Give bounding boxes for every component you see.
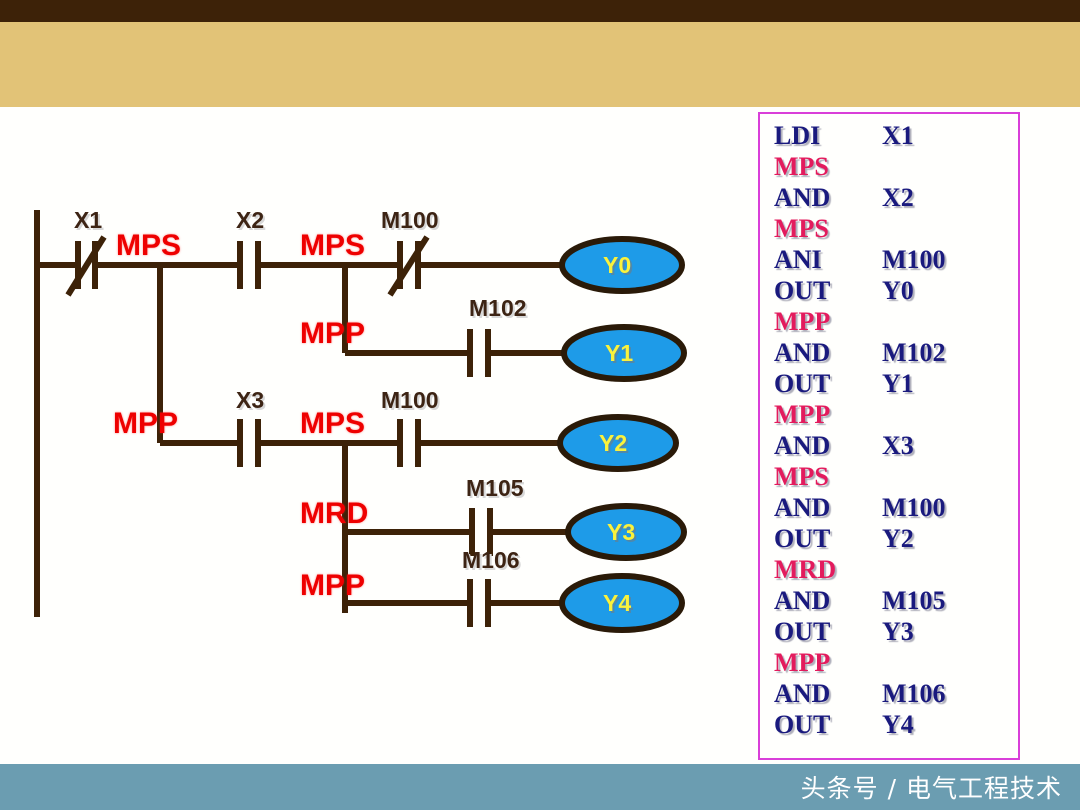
il-opcode: OUT [774,368,882,399]
il-opcode: OUT [774,523,882,554]
il-opcode: MPP [774,399,882,430]
top-tan-band [0,22,1080,107]
coil-y3 [568,506,684,558]
contact-m100-b [400,419,418,467]
coil-y4 [562,576,682,630]
il-row: OUTY3 [774,616,1018,647]
ladder-wires [0,107,740,764]
il-row: MRD [774,554,1018,585]
il-row: OUTY2 [774,523,1018,554]
il-row: MPS [774,213,1018,244]
il-opcode: LDI [774,120,882,151]
il-row: ANDX3 [774,430,1018,461]
stack-annotation-mpp-3: MPP [300,569,365,603]
contact-label-m100-b: M100 [381,387,439,414]
il-opcode: MPS [774,213,882,244]
il-opcode: ANI [774,244,882,275]
il-opcode: OUT [774,709,882,740]
contact-label-m100-a: M100 [381,207,439,234]
il-row: OUTY4 [774,709,1018,740]
il-operand: M102 [882,337,946,368]
footer-credit: 头条号 / 电气工程技术 [801,769,1062,805]
contact-label-x3: X3 [236,387,264,414]
contact-label-x1: X1 [74,207,102,234]
stack-annotation-mps-1: MPS [116,229,181,263]
il-operand: X2 [882,182,914,213]
il-operand: Y2 [882,523,914,554]
il-opcode: MPS [774,151,882,182]
il-row: LDIX1 [774,120,1018,151]
il-row: ANDM100 [774,492,1018,523]
il-opcode: MRD [774,554,882,585]
slide-canvas: X1 X2 M100 M102 X3 M100 M105 M106 MPS MP… [0,0,1080,810]
il-operand: Y1 [882,368,914,399]
il-row: ANDM106 [774,678,1018,709]
il-opcode: AND [774,492,882,523]
il-operand: Y3 [882,616,914,647]
il-row: MPP [774,647,1018,678]
il-row: OUTY1 [774,368,1018,399]
contact-label-x2: X2 [236,207,264,234]
ladder-diagram: X1 X2 M100 M102 X3 M100 M105 M106 MPS MP… [0,107,740,764]
coil-y0 [562,239,682,291]
il-row: OUTY0 [774,275,1018,306]
contact-label-m105: M105 [466,475,524,502]
stack-annotation-mps-3: MPS [300,407,365,441]
il-opcode: AND [774,182,882,213]
il-opcode: MPS [774,461,882,492]
il-operand: M100 [882,492,946,523]
il-operand: M105 [882,585,946,616]
contact-m106 [470,579,488,627]
il-opcode: AND [774,337,882,368]
contact-label-m106: M106 [462,547,520,574]
il-opcode: MPP [774,647,882,678]
il-opcode: AND [774,585,882,616]
il-operand: X1 [882,120,914,151]
stack-annotation-mrd: MRD [300,497,368,531]
stack-annotation-mpp-1: MPP [300,317,365,351]
il-operand: Y4 [882,709,914,740]
instruction-list-panel: LDIX1 MPS ANDX2 MPS ANIM100 OUTY0 MPP AN… [758,112,1020,760]
coil-y1 [564,327,684,379]
il-opcode: OUT [774,616,882,647]
il-opcode: AND [774,430,882,461]
il-operand: X3 [882,430,914,461]
il-row: MPP [774,399,1018,430]
il-operand: M106 [882,678,946,709]
il-opcode: AND [774,678,882,709]
il-row: ANDM102 [774,337,1018,368]
coil-y2 [560,417,676,469]
il-opcode: OUT [774,275,882,306]
il-operand: M100 [882,244,946,275]
contact-x2 [240,241,258,289]
contact-label-m102: M102 [469,295,527,322]
stack-annotation-mps-2: MPS [300,229,365,263]
contact-m102 [470,329,488,377]
top-dark-band [0,0,1080,22]
il-operand: Y0 [882,275,914,306]
il-opcode: MPP [774,306,882,337]
il-row: MPS [774,151,1018,182]
footer-bar: 头条号 / 电气工程技术 [0,764,1080,810]
il-row: MPP [774,306,1018,337]
il-row: ANDM105 [774,585,1018,616]
il-row: ANIM100 [774,244,1018,275]
il-row: ANDX2 [774,182,1018,213]
contact-x3 [240,419,258,467]
stack-annotation-mpp-2: MPP [113,407,178,441]
il-row: MPS [774,461,1018,492]
